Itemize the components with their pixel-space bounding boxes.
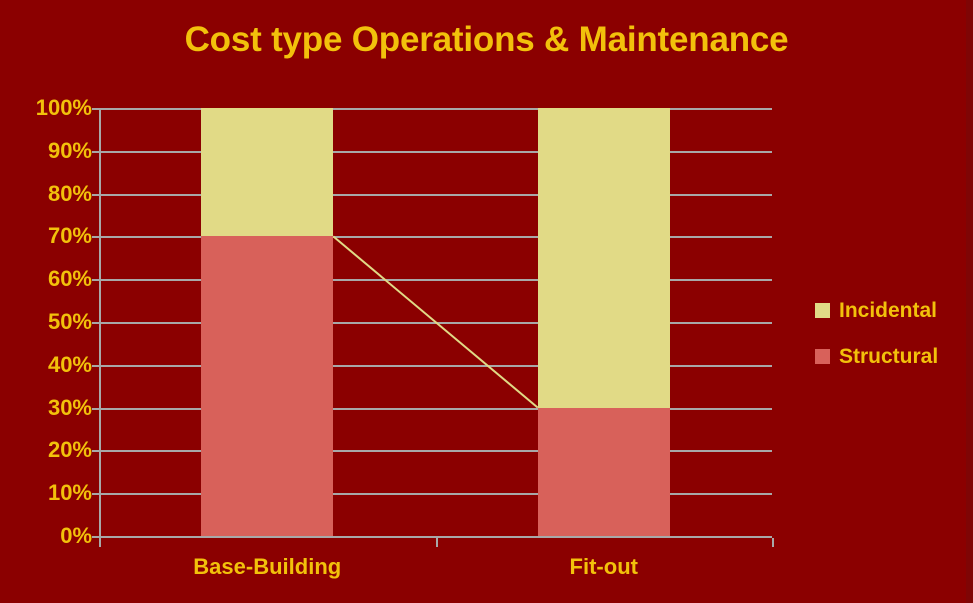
y-axis-labels: 100%90%80%70%60%50%40%30%20%10%0% [0, 0, 92, 603]
chart-legend: IncidentalStructural [815, 300, 965, 392]
chart-container: Cost type Operations & Maintenance 100%9… [0, 0, 973, 603]
gridline-60 [99, 279, 772, 281]
y-tick-mark [92, 408, 100, 410]
x-axis-label-fit-out: Fit-out [436, 554, 773, 580]
y-tick-mark [92, 322, 100, 324]
y-axis-label: 10% [6, 482, 92, 504]
plot-area [99, 108, 772, 536]
y-tick-mark [92, 365, 100, 367]
y-axis-label: 70% [6, 225, 92, 247]
y-tick-mark [92, 279, 100, 281]
gridline-40 [99, 365, 772, 367]
chart-title: Cost type Operations & Maintenance [0, 20, 973, 60]
y-tick-mark [92, 151, 100, 153]
legend-label: Structural [839, 346, 938, 367]
y-axis-label: 0% [6, 525, 92, 547]
bar-segment-incidental-base-building[interactable] [201, 108, 333, 236]
y-axis-label: 20% [6, 439, 92, 461]
y-axis-label: 80% [6, 183, 92, 205]
y-tick-mark [92, 493, 100, 495]
legend-label: Incidental [839, 300, 937, 321]
x-axis-label-base-building: Base-Building [99, 554, 436, 580]
y-tick-mark [92, 450, 100, 452]
y-axis-label: 50% [6, 311, 92, 333]
gridline-20 [99, 450, 772, 452]
bar-segment-incidental-fit-out[interactable] [538, 108, 670, 408]
y-tick-mark [92, 194, 100, 196]
y-tick-mark [92, 108, 100, 110]
plot-frame-edge [966, 0, 973, 603]
bar-segment-structural-fit-out[interactable] [538, 408, 670, 536]
gridline-30 [99, 408, 772, 410]
x-tick-mark [436, 538, 438, 547]
x-tick-mark [772, 538, 774, 547]
gridline-70 [99, 236, 772, 238]
legend-item-structural[interactable]: Structural [815, 346, 965, 367]
bar-segment-structural-base-building[interactable] [201, 236, 333, 536]
y-axis-label: 100% [6, 97, 92, 119]
y-axis-label: 40% [6, 354, 92, 376]
y-axis-label: 30% [6, 397, 92, 419]
y-axis-label: 90% [6, 140, 92, 162]
y-axis-label: 60% [6, 268, 92, 290]
legend-swatch-icon [815, 303, 830, 318]
gridline-90 [99, 151, 772, 153]
x-tick-mark [99, 538, 101, 547]
gridline-50 [99, 322, 772, 324]
legend-swatch-icon [815, 349, 830, 364]
y-tick-mark [92, 236, 100, 238]
gridline-10 [99, 493, 772, 495]
gridline-100 [99, 108, 772, 110]
gridline-80 [99, 194, 772, 196]
legend-item-incidental[interactable]: Incidental [815, 300, 965, 321]
